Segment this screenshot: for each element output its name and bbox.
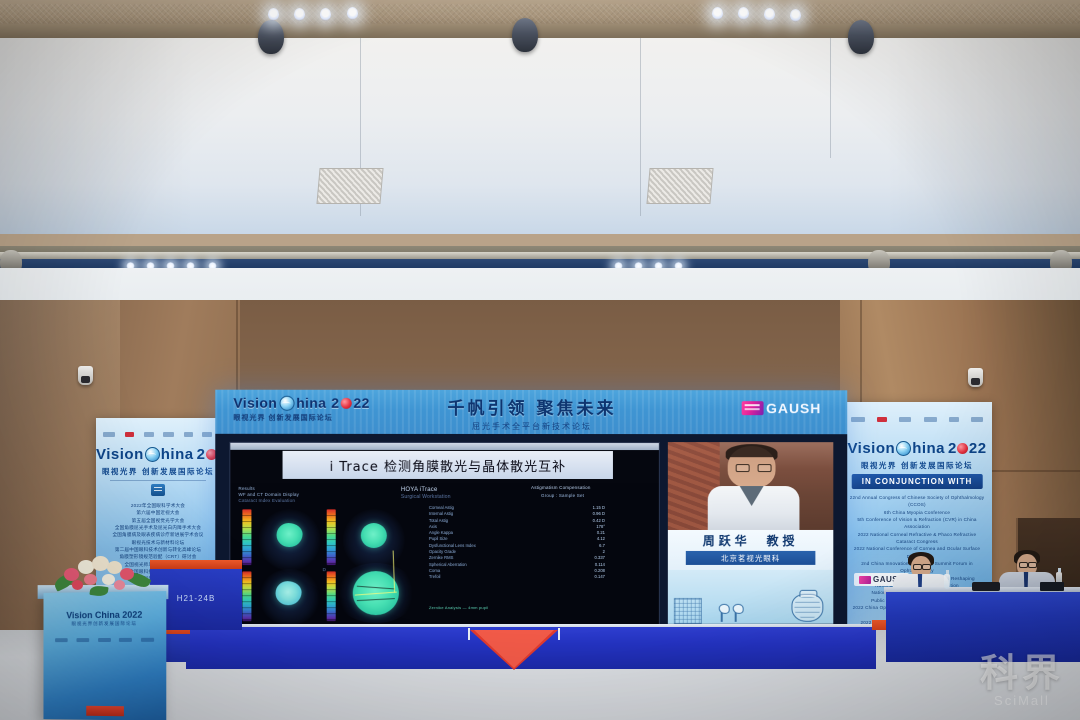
logo-vision-text: Vision [847,440,895,457]
itrace-metrics-table: Corneal Astig1.15 DInternal Astig0.96 DT… [429,505,605,581]
flower-arrangement [52,552,156,598]
logo-year-head: 2 [948,440,957,457]
speaker-eye [758,464,772,472]
logo-china-text: hina [912,440,945,457]
right-banner-logo: Vision hina 2 22 眼视光界 创新发展国际论坛 [842,440,992,471]
speaking-podium: Vision China 2022 眼视光界创新发展国际论坛 [43,591,166,720]
right-banner-subtitle: 眼视光界 创新发展国际论坛 [842,460,992,471]
logo-china-text: hina [161,446,194,463]
sponsor-chip [98,637,111,641]
podium-logo-subtitle: 眼视光界创新发展国际论坛 [53,621,156,628]
ceiling-vent [646,168,713,204]
name-plate [1040,582,1064,591]
banner-line: 2022 National Corneal Refractive & Phaco… [842,531,992,546]
banner-sponsor-row [851,409,983,430]
logo-year-head: 2 [197,446,206,463]
slide-toolbar [230,443,659,450]
slide-title: i Trace 检测角膜散光与晶体散光互补 [330,455,567,474]
gaush-label: GAUSH [766,400,821,416]
ceiling-light [790,9,801,22]
itrace-metric-row: Trefoil0.147 [429,574,605,580]
stage-red-carpet [474,630,554,668]
metric-value: 0.147 [594,574,604,580]
sponsor-chip [55,638,68,642]
logo-vision-text: Vision [96,446,144,463]
banner-sponsor-row [103,425,212,445]
banner-line: 全国角膜病及眼表疾病诊疗新进展学术会议 [96,531,220,538]
itrace-subtitle: Cataract Index Evaluation [238,498,295,505]
podium-logo: Vision China 2022 眼视光界创新发展国际论坛 [53,609,156,627]
water-bottle [944,574,950,589]
left-banner-subtitle: 眼视光界 创新发展国际论坛 [96,466,220,477]
globe-icon [896,441,911,456]
left-banner-logo: Vision hina 2 22 眼视光界 创新发展国际论坛 [96,446,220,477]
conference-photo: Vision hina 2 22 眼视光界 创新发展国际论坛 2022年全国眼科… [0,0,1080,720]
crane-bird-icon [734,604,740,622]
ceiling-spotlight-housing [512,18,538,52]
speaker-name: 周跃华 教授 [668,532,833,549]
sponsor-chip [971,417,983,422]
ceiling-light [738,7,749,20]
topography-map-upper-right [361,523,387,548]
podium-sponsor-row [55,636,154,643]
astig-group-header: Group : Sample Set [541,493,584,500]
crane-bird-icon [720,604,726,622]
sponsor-chip [125,432,134,437]
hoya-brand-line2: Surgical Workstation [401,494,451,501]
ceiling-spotlight-housing [848,20,874,54]
speaker-eye [736,464,750,472]
screen-event-logo: Vision hina 2 22 眼视光界 创新发展国际论坛 [233,395,369,423]
slogan-line-2: 屈光手术全平台新技术论坛 [447,421,616,432]
sponsor-chip [202,432,212,437]
ceramic-jar-icon [791,594,823,622]
slogan-line-1: 千帆引领 聚焦未来 [447,394,616,419]
in-conjunction-with-label: IN CONJUNCTION WITH [852,474,983,489]
slide-title-banner: i Trace 检测角膜散光与晶体散光互补 [283,451,613,479]
globe-icon [279,395,294,410]
ceiling-light [712,7,723,20]
sponsor-chip [924,417,937,422]
panelist-glasses-icon [913,564,922,570]
globe-icon [145,447,160,462]
ceiling-vent [316,168,383,204]
hall-sign-accent [150,560,242,569]
ceiling-panel [0,34,1080,234]
ceiling-light [268,8,279,21]
ceiling-seam [640,36,641,216]
itrace-footnote: Zernike Analysis — 4mm pupil [429,605,488,611]
speaker-name-bar: 周跃华 教授 北京茗视光眼科 [668,530,833,570]
sponsor-chip [76,638,89,642]
logo-vision-text: Vision [233,395,277,411]
speaker-video-panel: 周跃华 教授 北京茗视光眼科 [668,442,833,624]
ceiling-light [764,8,775,21]
led-display-screen: Vision hina 2 22 眼视光界 创新发展国际论坛 千帆引领 聚焦未来… [215,390,847,637]
ceiling-cornice-shadow [0,24,1080,38]
panelist-glasses-icon [1028,562,1037,568]
banner-divider [110,480,206,481]
colorbar-ticks [327,509,336,565]
sponsor-chip [144,432,154,437]
ceiling-seam [830,38,831,158]
screen-header-bar: Vision hina 2 22 眼视光界 创新发展国际论坛 千帆引领 聚焦未来… [215,390,847,434]
ceiling-spotlight-housing [258,20,284,54]
screen-slogan: 千帆引领 聚焦未来 屈光手术全平台新技术论坛 [447,394,616,432]
head-table [886,592,1080,662]
sponsor-chip [103,432,115,437]
ceiling-light [294,8,305,21]
banner-line: 全国角膜屈光手术及屈光白内障手术大会 [96,524,220,531]
logo-red-dot-icon [341,397,352,408]
flower [102,574,115,585]
banner-line: 第五届全国视觉光学大会 [96,517,220,524]
sponsor-chip [851,417,865,422]
forum-badge-icon [151,484,165,496]
ceiling-light [320,8,331,21]
colorbar-ticks [242,509,251,565]
panelist-glasses-icon [1019,562,1028,568]
ceiling-light [347,7,358,20]
flower [72,580,83,590]
flower [120,568,134,580]
gaush-mark-icon [859,576,871,584]
astig-compensation-header: Astigmatism Compensation [531,485,591,492]
sponsor-chip [119,637,132,641]
banner-line: 眼视光技术与新材料论坛 [96,539,220,546]
sponsor-chip [141,637,154,641]
building-illustration-icon [674,598,702,624]
sponsor-chip [184,432,193,437]
speaker-organization: 北京茗视光眼科 [686,551,816,565]
logo-red-dot-icon [957,443,968,454]
logo-year-tail: 22 [969,440,987,457]
logo-year-head: 2 [331,395,339,411]
screen-event-subtitle: 眼视光界 创新发展国际论坛 [233,413,369,423]
sponsor-chip [163,432,174,437]
banner-line: 6th China Myopia Conference [842,509,992,516]
ceiling-cornice-texture [0,4,1080,26]
sponsor-chip [949,417,959,422]
banner-line: 2022年全国眼科学术大会 [96,502,220,509]
logo-year-tail: 22 [353,395,369,411]
microphone-base [972,582,1000,591]
banner-line: 5th Conference of Vision & Refraction (C… [842,516,992,531]
ceiling-beam-rail [0,252,1080,259]
sponsor-chip [877,417,887,422]
ramp-railing [468,628,470,640]
presentation-slide: i Trace 检测角膜散光与晶体散光互补 Results WF and CT … [229,442,660,626]
podium-base-accent [86,706,124,716]
metric-label: Trefoil [429,574,441,580]
speaker-video-feed [668,442,833,530]
podium-logo-main: Vision China 2022 [53,609,156,620]
ramp-railing [558,628,560,640]
flower [84,574,97,585]
security-camera-icon [78,366,93,385]
flower [114,580,125,590]
gaush-mark-icon [742,401,764,415]
jar-pattern [794,597,820,619]
banner-line: 22nd Annual Congress of Chinese Society … [842,494,992,509]
video-panel-footer-graphic [668,570,833,624]
banner-line: 第六届中国近视大会 [96,509,220,516]
colorbar-ticks [242,571,251,621]
leaf [89,585,108,597]
security-camera-icon [968,368,983,387]
sponsor-chip [899,417,911,422]
panelist-glasses-icon [922,564,931,570]
itrace-report: Results WF and CT Domain Display Catarac… [230,483,659,625]
logo-china-text: hina [296,395,326,411]
screen-sponsor-logo: GAUSH [742,400,821,416]
